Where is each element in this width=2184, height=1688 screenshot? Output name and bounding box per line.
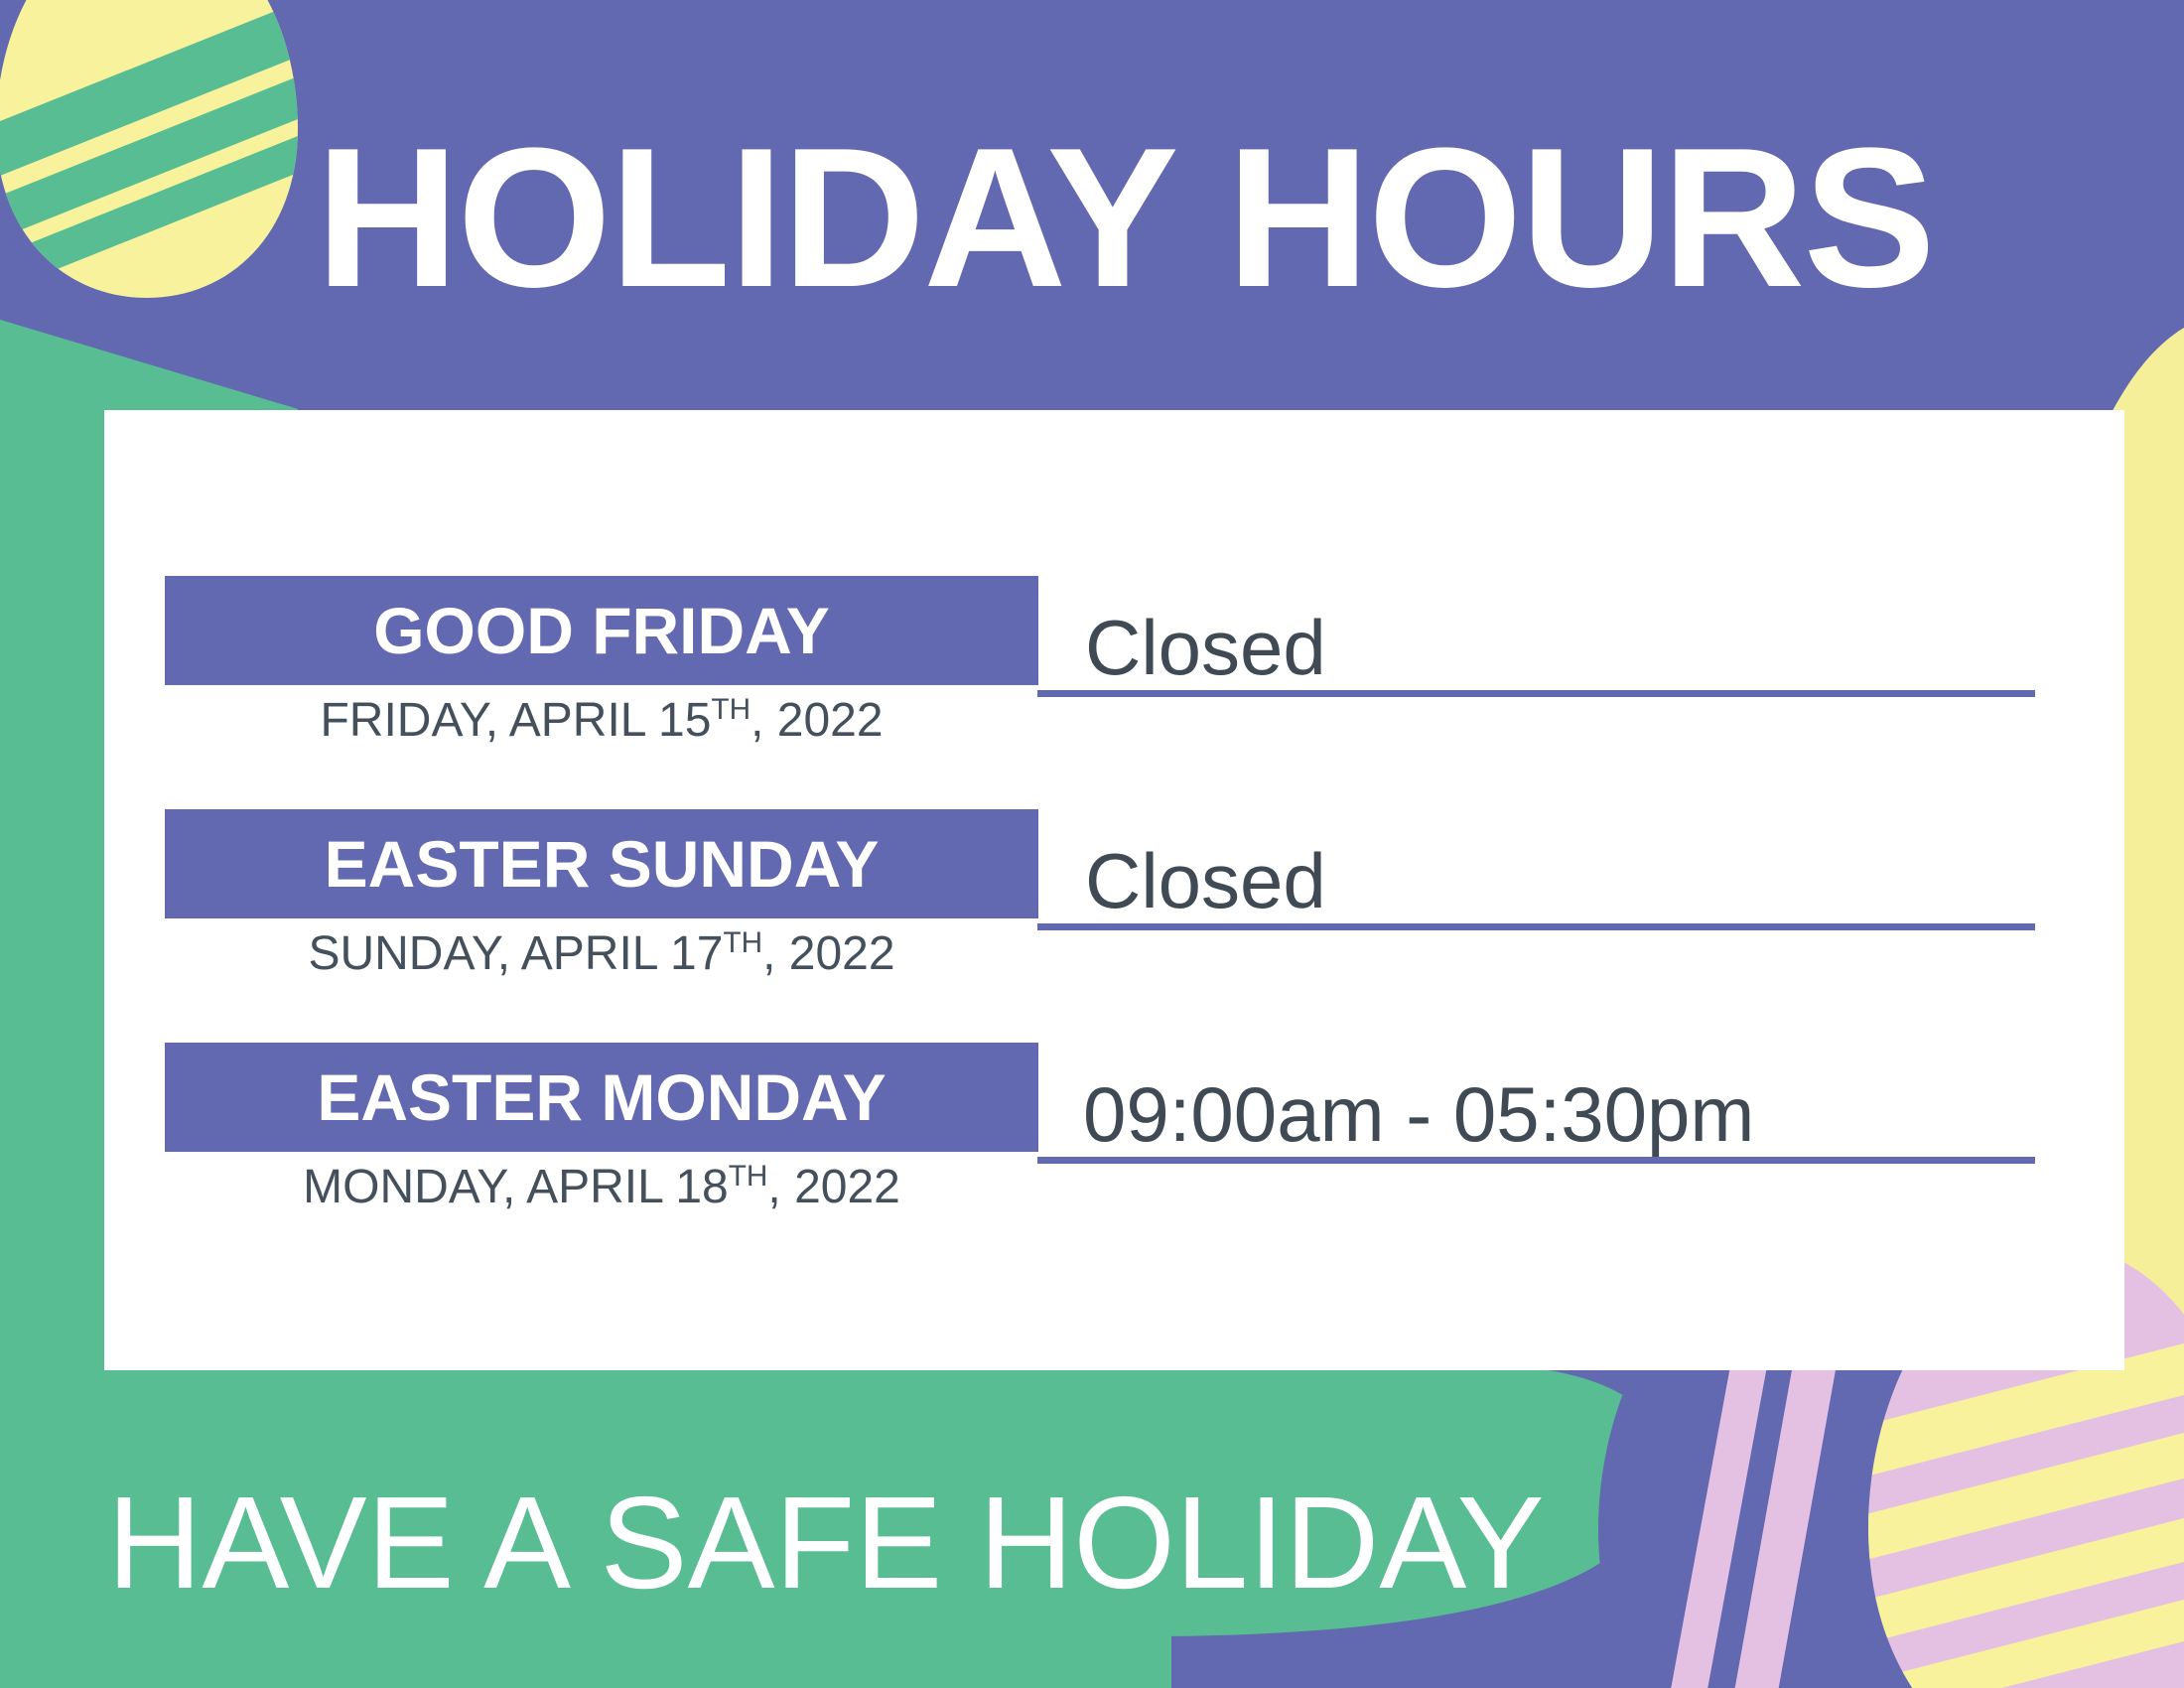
- holiday-date-text: SUNDAY, APRIL 17: [308, 927, 723, 980]
- holiday-date-ordinal: TH: [723, 926, 762, 959]
- holiday-hours-field: Closed: [1037, 809, 2035, 930]
- table-row: EASTER MONDAY MONDAY, APRIL 18TH, 2022 0…: [104, 1043, 2124, 1281]
- holiday-date-ordinal: TH: [711, 693, 751, 726]
- holiday-date-year: , 2022: [762, 927, 894, 980]
- holiday-hours: Closed: [1037, 842, 1326, 923]
- holiday-name: EASTER MONDAY: [317, 1059, 886, 1135]
- holiday-date-year: , 2022: [751, 694, 883, 747]
- holiday-date-ordinal: TH: [729, 1160, 768, 1193]
- holiday-name: EASTER SUNDAY: [325, 826, 880, 902]
- holiday-date: SUNDAY, APRIL 17TH, 2022: [165, 926, 1038, 981]
- holiday-name-bar: EASTER SUNDAY: [165, 809, 1038, 918]
- page-title: HOLIDAY HOURS: [316, 119, 1934, 318]
- table-row: GOOD FRIDAY FRIDAY, APRIL 15TH, 2022 Clo…: [104, 576, 2124, 814]
- hours-card: GOOD FRIDAY FRIDAY, APRIL 15TH, 2022 Clo…: [104, 410, 2124, 1370]
- holiday-hours-field: 09:00am - 05:30pm: [1037, 1043, 2035, 1164]
- holiday-date-year: , 2022: [767, 1161, 899, 1213]
- holiday-hours: Closed: [1037, 609, 1326, 690]
- holiday-date: FRIDAY, APRIL 15TH, 2022: [165, 693, 1038, 748]
- table-row: EASTER SUNDAY SUNDAY, APRIL 17TH, 2022 C…: [104, 809, 2124, 1048]
- holiday-date-text: MONDAY, APRIL 18: [303, 1161, 729, 1213]
- holiday-date-text: FRIDAY, APRIL 15: [320, 694, 711, 747]
- holiday-hours-field: Closed: [1037, 576, 2035, 697]
- holiday-name: GOOD FRIDAY: [373, 593, 830, 668]
- holiday-name-bar: GOOD FRIDAY: [165, 576, 1038, 685]
- holiday-name-bar: EASTER MONDAY: [165, 1043, 1038, 1152]
- holiday-date: MONDAY, APRIL 18TH, 2022: [165, 1160, 1038, 1214]
- holiday-hours: 09:00am - 05:30pm: [1037, 1075, 1754, 1157]
- holiday-hours-poster: HOLIDAY HOURS GOOD FRIDAY FRIDAY, APRIL …: [0, 0, 2184, 1688]
- footer-message: HAVE A SAFE HOLIDAY: [107, 1468, 1545, 1618]
